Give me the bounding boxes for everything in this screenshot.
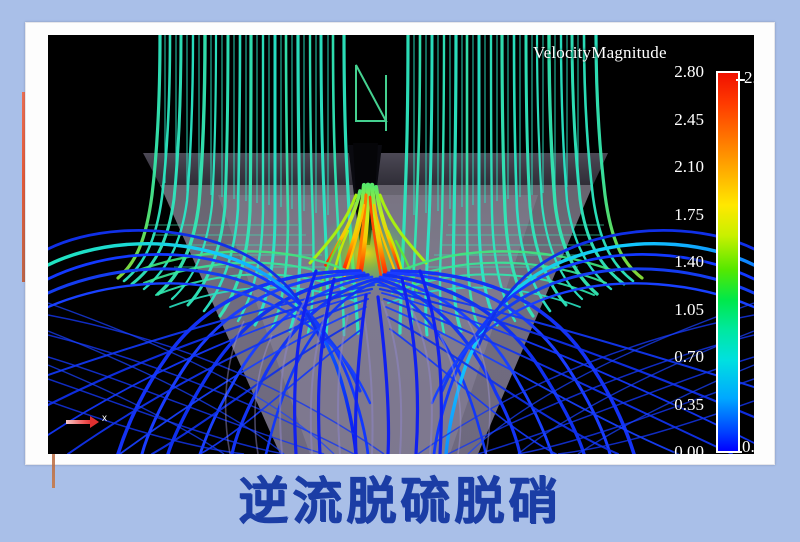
axis-indicator: x	[66, 414, 114, 430]
x-axis-arrow-shaft	[66, 420, 92, 424]
cfd-scene	[48, 35, 754, 454]
x-axis-arrow-head	[90, 416, 99, 428]
streamline-svg	[48, 35, 754, 454]
x-axis-label: x	[102, 413, 107, 424]
slide-canvas: VelocityMagnitude 2.80 2.45 2.10 1.75 1.…	[0, 0, 800, 542]
slide-caption: 逆流脱硫脱硝	[0, 470, 800, 532]
image-frame: VelocityMagnitude 2.80 2.45 2.10 1.75 1.…	[25, 22, 775, 465]
render-viewport: VelocityMagnitude 2.80 2.45 2.10 1.75 1.…	[48, 35, 754, 454]
